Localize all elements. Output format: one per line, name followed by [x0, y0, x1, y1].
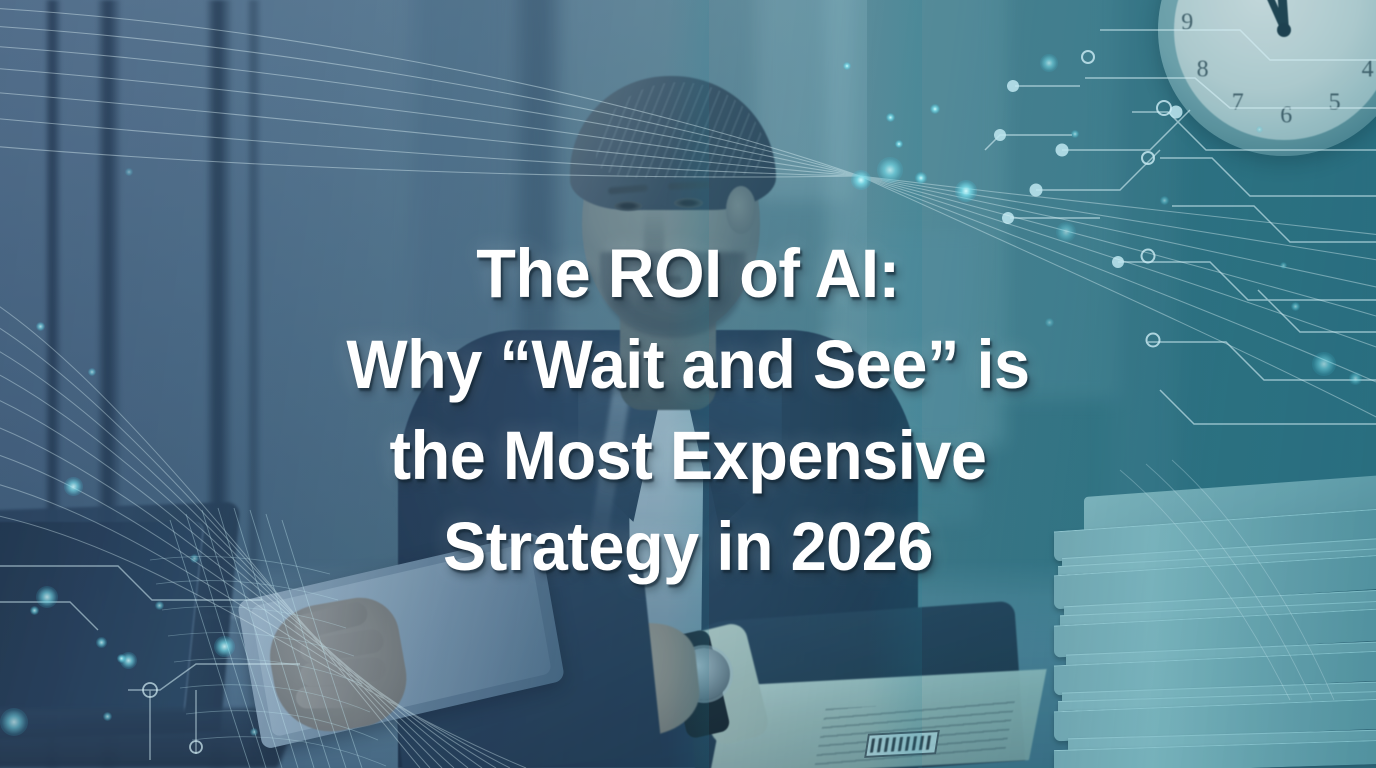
- glow-particle: [96, 637, 107, 648]
- glow-particle: [895, 140, 903, 148]
- glow-particle: [1071, 130, 1079, 138]
- glow-particle: [117, 654, 126, 663]
- glow-particle: [1160, 196, 1169, 205]
- title-line-2: Why “Wait and See” is: [79, 319, 1297, 410]
- glow-particle: [214, 636, 235, 657]
- title-line-4: Strategy in 2026: [79, 501, 1297, 592]
- page-title: The ROI of AI: Why “Wait and See” is the…: [0, 228, 1376, 592]
- title-line-3: the Most Expensive: [79, 410, 1297, 501]
- glow-particle: [1256, 126, 1263, 133]
- glow-particle: [851, 170, 871, 190]
- glow-particle: [877, 157, 903, 183]
- glow-particle: [955, 180, 977, 202]
- title-line-1: The ROI of AI:: [79, 228, 1297, 319]
- glow-particle: [1040, 54, 1058, 72]
- glow-particle: [915, 172, 927, 184]
- glow-particle: [125, 168, 133, 176]
- glow-particle: [930, 104, 940, 114]
- glow-particle: [103, 712, 112, 721]
- glow-particle: [250, 728, 258, 736]
- hero-banner: 2 3 4 5 6 7 8 9 10: [0, 0, 1376, 768]
- glow-particle: [843, 62, 851, 70]
- glow-particle: [30, 606, 39, 615]
- glow-particle: [886, 113, 895, 122]
- glow-particle: [0, 708, 28, 736]
- glow-particle: [155, 601, 164, 610]
